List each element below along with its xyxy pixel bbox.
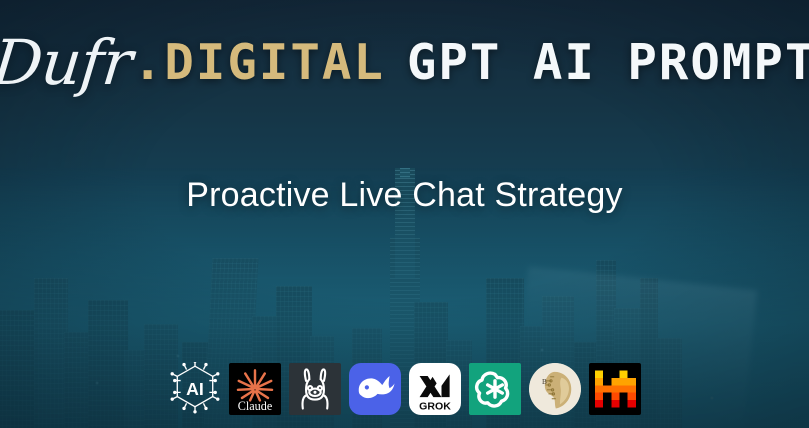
brand-dot: . <box>133 34 165 91</box>
deepseek-whale-icon <box>348 362 402 416</box>
claude-icon: Claude <box>228 362 282 416</box>
brand-tagline: GPT AI PROMPT <box>407 34 809 91</box>
ollama-llama-icon <box>288 362 342 416</box>
banner-subtitle: Proactive Live Chat Strategy <box>0 176 809 215</box>
svg-text:AI: AI <box>186 379 204 399</box>
grok-xai-icon: GROK <box>408 362 462 416</box>
svg-text:GROK: GROK <box>419 400 451 412</box>
promo-banner: Dufr . DIGITAL GPT AI PROMPT Proactive L… <box>0 0 809 428</box>
brand-script-word: Dufr <box>0 26 135 99</box>
svg-text:B: B <box>542 377 547 386</box>
svg-text:Claude: Claude <box>237 399 271 413</box>
ai-logo-strip: AI Claude <box>0 362 809 416</box>
brand-digital-word: DIGITAL <box>164 34 385 91</box>
openai-icon <box>468 362 522 416</box>
android-head-icon: B <box>528 362 582 416</box>
ai-circuit-badge-icon: AI <box>168 362 222 416</box>
mistral-icon <box>588 362 642 416</box>
brand-header: Dufr . DIGITAL GPT AI PROMPT <box>0 26 809 99</box>
